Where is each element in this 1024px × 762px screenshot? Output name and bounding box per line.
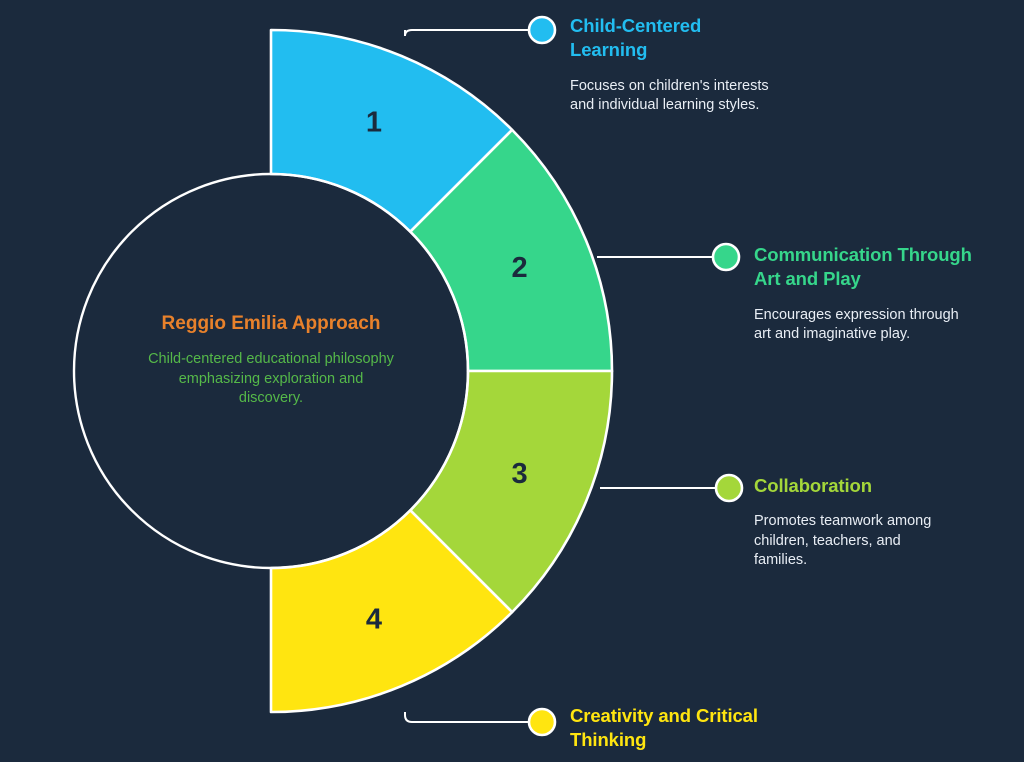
connector-line-1 (405, 30, 530, 36)
label-title-3: Collaboration (754, 474, 954, 498)
label-block-2[interactable]: Communication Through Art and Play Encou… (754, 243, 974, 344)
label-description-1: Focuses on children's interests and indi… (570, 77, 770, 116)
label-description-3: Promotes teamwork among children, teache… (754, 512, 954, 570)
connector-dot-1[interactable] (529, 17, 555, 43)
connector-dot-2[interactable] (713, 244, 739, 270)
label-block-1[interactable]: Child-Centered Learning Focuses on child… (570, 14, 770, 115)
center-description: Child-centered educational philosophy em… (146, 350, 396, 408)
label-title-4: Creativity and Critical Thinking (570, 704, 800, 753)
segment-number-3: 3 (511, 458, 527, 490)
label-title-2: Communication Through Art and Play (754, 243, 974, 292)
label-block-3[interactable]: Collaboration Promotes teamwork among ch… (754, 474, 954, 570)
infographic-canvas: 1234 Reggio Emilia Approach Child-center… (0, 0, 1024, 762)
label-description-2: Encourages expression through art and im… (754, 306, 974, 345)
label-block-4[interactable]: Creativity and Critical Thinking (570, 704, 800, 762)
center-title: Reggio Emilia Approach (146, 312, 396, 336)
connector-dot-4[interactable] (529, 709, 555, 735)
center-text-block: Reggio Emilia Approach Child-centered ed… (146, 312, 396, 408)
segment-number-1: 1 (366, 106, 382, 138)
connector-line-4 (405, 712, 530, 722)
segment-number-2: 2 (511, 252, 527, 284)
connector-dot-3[interactable] (716, 475, 742, 501)
label-title-1: Child-Centered Learning (570, 14, 770, 63)
segment-number-4: 4 (366, 604, 382, 636)
